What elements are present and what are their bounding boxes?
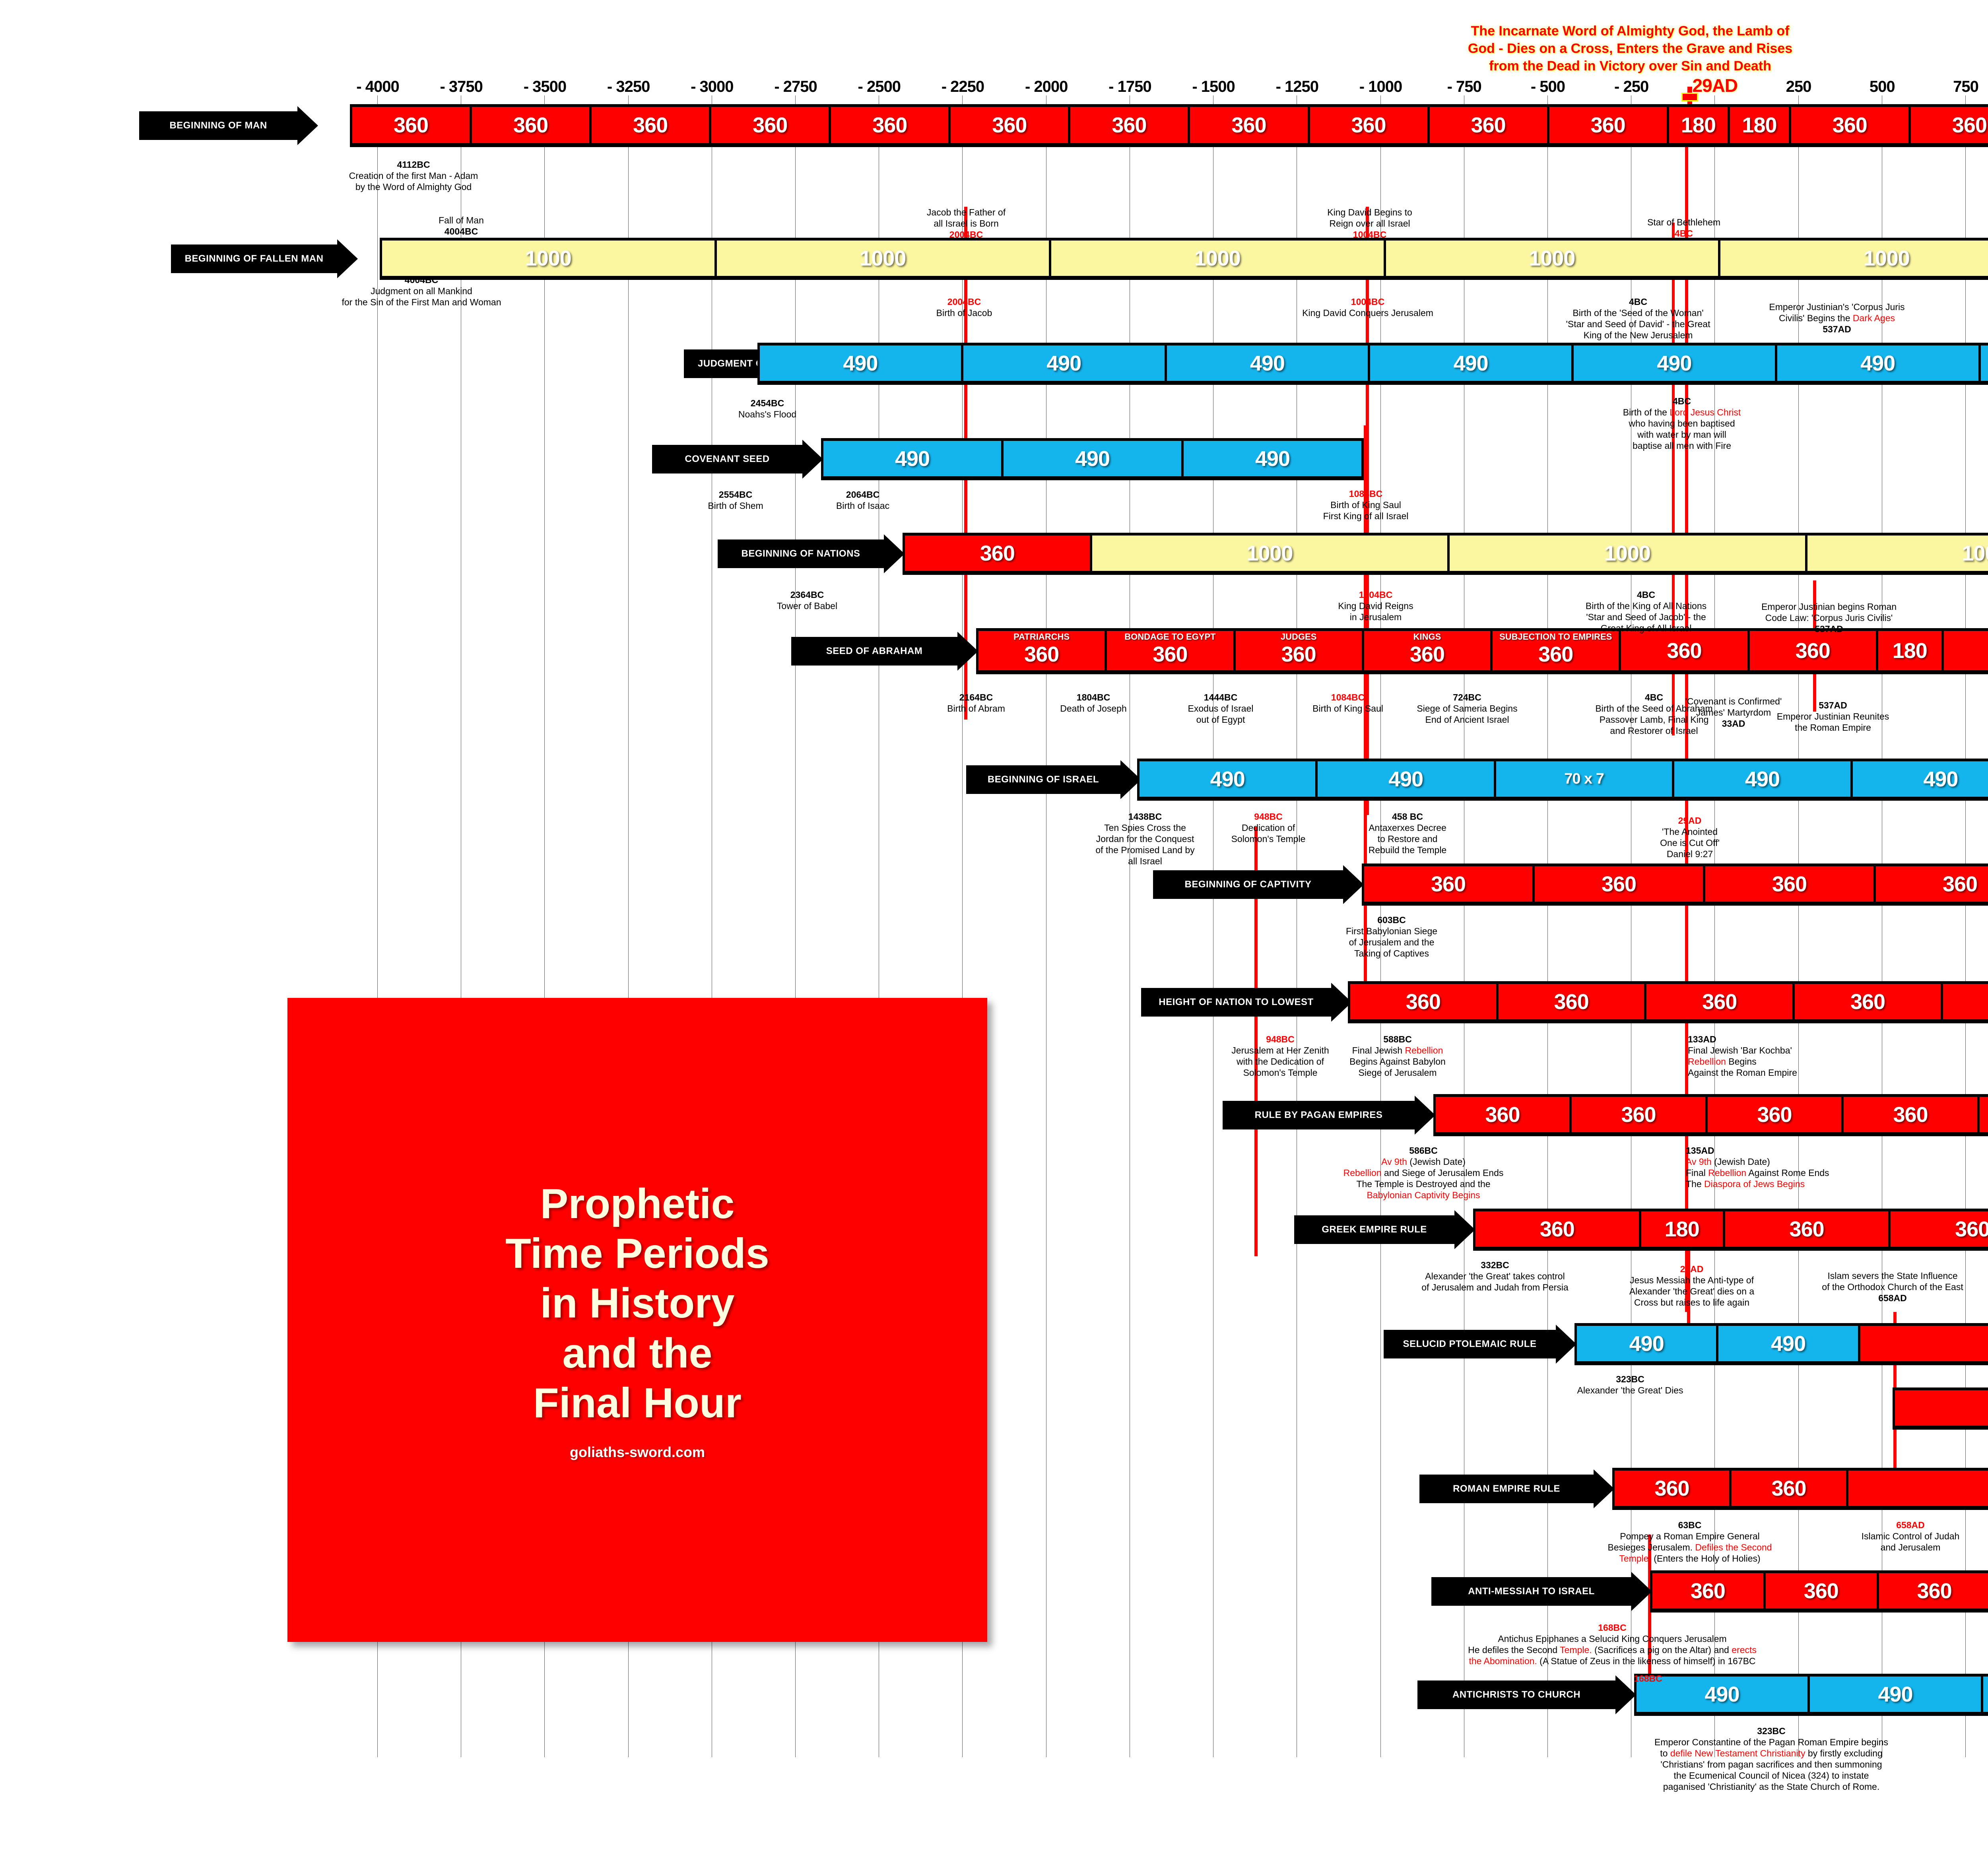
timeline-cell[interactable]: 360 [1535,866,1705,902]
annotation-a36: Napoleon Defeats the Papal Army. Pope Pi… [1948,700,1988,733]
timeline-cell[interactable]: 360 [1791,107,1911,143]
annotation-date: 168BC [1590,1673,1706,1684]
annotation-text: Death of Joseph [1026,703,1161,714]
timeline-cell[interactable]: 490 [1983,1677,1988,1712]
axis-tick-label: 750 [1953,78,1978,96]
timeline-cell[interactable]: 1335 [1860,1326,1988,1361]
timeline-cell[interactable]: KINGS360 [1364,631,1493,670]
cell-value: 360 [992,113,1027,138]
cell-value: 490 [1629,1331,1664,1356]
timeline-cell[interactable]: 360 [1070,107,1190,143]
timeline-cell[interactable]: 1000 [1092,536,1450,571]
annotation-a9: 1004BCKing David Conquers Jerusalem [1274,296,1461,318]
timeline-cell[interactable]: 490 [1810,1677,1983,1712]
arrow-head-icon [1415,1096,1435,1135]
annotation-date: 2004BC [885,296,1044,307]
annotation-text: Jacob the Father ofall Israel is Born [891,207,1042,229]
annotation-a64: 323BCEmperor Constantine of the Pagan Ro… [1559,1725,1984,1792]
timeline-cell[interactable]: 1000 [717,241,1052,276]
cell-value: 360 [1943,872,1977,897]
cell-value: 490 [1923,767,1958,792]
timeline-cell[interactable]: 360 [1725,1211,1891,1247]
row-label-beginning-of-fallen-man[interactable]: BEGINNING OF FALLEN MAN [171,239,358,278]
annotation-date: 1444BC [1149,692,1292,703]
cell-value: 1000 [1194,246,1241,271]
annotation-text: Emperor Justinian begins RomanCode Law: … [1722,601,1936,623]
timeline-bar: 360360360360360360360 [1348,981,1988,1023]
timeline-cell[interactable]: 490 [1674,761,1852,797]
annotation-a51: 332BCAlexander 'the Great' takes control… [1366,1259,1624,1293]
timeline-cell[interactable]: 490 [1370,345,1574,381]
cell-value: 1000 [860,246,906,271]
annotation-date: 1804BC [1026,692,1161,703]
timeline-cell[interactable]: 360 [592,107,711,143]
annotation-date: 4BC [1610,228,1757,239]
cell-value: 360 [1757,1102,1792,1127]
timeline-cell[interactable]: 490 [963,345,1167,381]
timeline-cell[interactable]: 180 [1730,107,1791,143]
annotation-text: Noahs's Flood [684,409,851,420]
axis-tick-label: - 1250 [1276,78,1318,96]
cell-value: 360 [1702,990,1737,1014]
timeline-bar: 360180360360360360 [1473,1209,1988,1251]
timeline-cell[interactable]: 360 [711,107,831,143]
timeline-cell[interactable]: 490 [1318,761,1496,797]
annotation-date: 133AD [1688,1034,1895,1045]
timeline-bar: 49049070 x 7490490490490 [1137,759,1988,801]
timeline-cell[interactable]: PATRIARCHS360 [978,631,1107,670]
annotation-text: Pompey a Roman Empire GeneralBesieges Je… [1551,1531,1829,1564]
axis-tick-label: 250 [1786,78,1811,96]
row-label-text: ANTICHRISTS TO CHURCH [1417,1680,1615,1709]
annotation-text: Birth of Abram [911,703,1042,714]
site-url: goliaths-sword.com [570,1444,705,1461]
annotation-a61: 168BCAntichus Epiphanes a Selucid King C… [1390,1622,1835,1667]
title-line-3: in History [540,1279,735,1328]
title-card: Prophetic Time Periods in History and th… [287,998,987,1642]
axis-tick-label: - 2000 [1025,78,1068,96]
timeline-cell[interactable]: 1000 [1051,241,1386,276]
timeline-cell[interactable]: 1000 [1386,241,1721,276]
cell-value: 360 [1917,1579,1952,1603]
annotation-a7: 2004BCBirth of Jacob [885,296,1044,318]
cell-value: 360 [1893,1102,1928,1127]
cell-value: 360 [1790,1217,1824,1242]
annotation-text: Creation of the first Man - Adamby the W… [330,170,497,192]
annotation-a52: 29ADJesus Messiah the Anti-type ofAlexan… [1612,1263,1771,1308]
row-label-text: GREEK EMPIRE RULE [1294,1215,1454,1244]
timeline-cell[interactable]: 360 [951,107,1070,143]
arrow-head-icon [802,440,823,479]
annotation-text: Antichus Epiphanes a Selucid King Conque… [1390,1633,1835,1667]
timeline-cell[interactable]: 1290 [1895,1390,1988,1426]
arrow-head-icon [1454,1210,1475,1249]
timeline-cell[interactable]: 490 [1777,345,1981,381]
cell-value: 360 [1621,1102,1656,1127]
annotation-date: 4004BC [402,226,521,237]
annotation-a3: In an unwillingness to address China's p… [1891,181,1988,214]
timeline-cell[interactable]: 1000 [1720,241,1988,276]
cell-caption: BONDAGE TO EGYPT [1107,632,1233,642]
annotation-a55: 323BCAlexander 'the Great' Dies [1543,1374,1718,1396]
annotation-a40: 29AD'The AnointedOne is Cut Off'Daniel 9… [1626,815,1753,860]
title-line-5: Final Hour [533,1378,742,1428]
row-label-text: SELUCID PTOLEMAIC RULE [1384,1330,1556,1358]
annotation-text: Emperor Justinian Reunitesthe Roman Empi… [1730,711,1936,733]
timeline-cell[interactable]: 1000 [382,241,717,276]
cell-value: 1000 [1246,541,1293,566]
arrow-head-icon [1343,865,1364,904]
cell-value: 360 [1538,642,1573,667]
timeline-cell[interactable]: 70 x 7 [1496,761,1674,797]
annotation-date: 537AD [1726,324,1948,335]
timeline-cell[interactable]: 490 [1184,441,1361,476]
cell-value: 490 [1046,351,1081,376]
cell-value: 360 [1471,113,1506,138]
timeline-cell[interactable]: 360 [831,107,951,143]
axis-tick-label: 500 [1870,78,1895,96]
annotation-text: King David Reignsin Jerusalem [1284,600,1467,623]
annotation-a53: Islam severs the State Influenceof the O… [1781,1270,1988,1304]
timeline-bar: 3601000100010001000 [903,533,1988,575]
annotation-text: Av 9th (Jewish Date)Final Rebellion Agai… [1686,1156,1920,1190]
annotation-text: Alexander 'the Great' Dies [1543,1385,1718,1396]
cell-value: 490 [1388,767,1423,792]
annotation-date: 588BC [1304,1034,1491,1045]
timeline-cell[interactable]: 360 [1844,1097,1980,1132]
timeline-cell[interactable]: 360 [1750,631,1878,670]
annotation-text: In an unwillingness to address China's p… [1891,181,1988,214]
axis-tick-label: - 500 [1531,78,1565,96]
row-label-text: RULE BY PAGAN EMPIRES [1223,1101,1415,1129]
cell-value: 490 [1255,446,1290,471]
title-line-1: Prophetic [540,1179,735,1229]
timeline-bar: 3603601260 3.5 x 360 [1612,1468,1988,1510]
timeline-cell[interactable]: 360 [1766,1573,1879,1609]
axis-tick-label: - 750 [1447,78,1481,96]
annotation-a48: 586BCAv 9th (Jewish Date)Rebellion and S… [1294,1145,1553,1201]
annotation-date: 1004BC [1284,589,1467,600]
annotation-text: Birth of Isaac [787,500,938,511]
cell-value: 360 [1771,1476,1806,1501]
annotation-a5: 4004BCJudgment on all Mankindfor the Sin… [310,274,533,308]
cell-value: 1000 [1962,541,1988,566]
row-label-roman-empire-rule[interactable]: ROMAN EMPIRE RULE [1419,1469,1614,1508]
row-label-text: COVENANT SEED [652,445,802,473]
row-label-beginning-of-israel[interactable]: BEGINNING OF ISRAEL [966,760,1141,799]
annotation-a59: 658ADIslamic Control of Judahand Jerusal… [1817,1519,1988,1553]
timeline-cell[interactable]: 360 [1980,1097,1988,1132]
timeline-cell[interactable]: JUDGES360 [1236,631,1364,670]
cell-value: 360 [1833,113,1867,138]
timeline-cell[interactable]: 360 [352,107,472,143]
annotation-a4: Fall of Man4004BC [402,215,521,237]
annotation-text: Emperor Constantine of the Pagan Roman E… [1559,1737,1984,1792]
cell-value: 180 [1681,113,1716,138]
timeline-cell[interactable]: 360 [1879,1573,1988,1609]
row-label-text: ROMAN EMPIRE RULE [1419,1475,1594,1503]
arrow-head-icon [957,632,978,671]
cell-value: 360 [633,113,668,138]
timeline-cell[interactable]: Roman Popery 1260 [1944,631,1988,670]
timeline-cell[interactable]: 490 [1140,761,1318,797]
cell-caption: KINGS [1364,632,1490,642]
timeline-cell[interactable]: 1000 [1807,536,1988,571]
timeline-cell[interactable]: 490 [1981,345,1988,381]
annotation-text: Jesus Messiah the Anti-type ofAlexander … [1612,1275,1771,1308]
annotation-text: Final Jewish 'Bar Kochba'Rebellion Begin… [1688,1045,1895,1078]
cell-value: 360 [1952,113,1987,138]
annotation-date: 658AD [1817,1519,1988,1531]
timeline-cell[interactable]: SUBJECTION TO EMPIRES360 [1493,631,1621,670]
row-label-beginning-of-nations[interactable]: BEGINNING OF NATIONS [718,534,905,573]
arrow-head-icon [337,239,358,278]
timeline-cell[interactable]: 490 [1853,761,1988,797]
timeline-bar: 360360360360360360 [1650,1570,1988,1613]
cell-value: 360 [1772,872,1807,897]
row-label-rule-by-pagan-empires[interactable]: RULE BY PAGAN EMPIRES [1223,1096,1435,1135]
timeline-cell[interactable]: 360 [1190,107,1310,143]
annotation-date: 537AD [1730,700,1936,711]
row-label-text: ANTI-MESSIAH TO ISRAEL [1431,1577,1631,1606]
annotation-text: Napoleon Defeats the Papal Army. Pope Pi… [1948,700,1988,722]
timeline-cell[interactable]: 360 [1646,984,1795,1019]
row-label-beginning-of-captivity[interactable]: BEGINNING OF CAPTIVITY [1153,865,1364,904]
row-label-beginning-of-man[interactable]: BEGINNING OF MAN [139,106,318,145]
annotation-a58: 63BCPompey a Roman Empire GeneralBesiege… [1551,1519,1829,1564]
annotation-text: Fall of Man [402,215,521,226]
timeline-cell[interactable]: 1000 [1450,536,1807,571]
cell-value: 490 [1745,767,1780,792]
annotation-a25: Emperor Justinian begins RomanCode Law: … [1722,601,1936,635]
annotation-text: Star of Bethlehem [1610,217,1757,228]
row-label-text: BEGINNING OF NATIONS [718,539,884,568]
cell-value: 1000 [1864,246,1910,271]
annotation-text: Exodus of Israelout of Egypt [1149,703,1292,725]
annotation-date: 948BC [1193,811,1344,822]
arrow-head-icon [297,106,318,145]
cell-value: 360 [1485,1102,1520,1127]
timeline-cell[interactable]: 490 [823,441,1004,476]
timeline-cell[interactable]: 180 [1878,631,1944,670]
annotation-a1: 4112BCCreation of the first Man - Adamby… [330,159,497,192]
cell-value: 180 [1742,113,1776,138]
row-label-anti-messiah-to-israel[interactable]: ANTI-MESSIAH TO ISRAEL [1431,1572,1652,1611]
cell-value: 360 [1431,872,1466,897]
annotation-a12: Emperor Justinian's 'Corpus JurisCivilis… [1726,301,1948,335]
timeline-cell[interactable]: 180 [1669,107,1730,143]
timeline-cell[interactable]: 360 [1708,1097,1844,1132]
cell-caption: JUDGES [1236,632,1362,642]
arrow-head-icon [884,534,905,573]
row-label-covenant-seed[interactable]: COVENANT SEED [652,440,823,479]
row-label-greek-empire-rule[interactable]: GREEK EMPIRE RULE [1294,1210,1475,1249]
annotation-date: 658AD [1781,1292,1988,1304]
cell-value: 360 [1955,1217,1988,1242]
cell-value: 70 x 7 [1564,770,1604,788]
row-label-text: BEGINNING OF ISRAEL [966,765,1120,794]
timeline-cell[interactable]: 360 [1615,1471,1732,1506]
row-label-height-of-nation-to-lowest[interactable]: HEIGHT OF NATION TO LOWEST [1141,983,1352,1022]
row-label-seed-of-abraham[interactable]: SEED OF ABRAHAM [791,632,978,671]
annotation-text: Birth of the Lord Jesus Christwho having… [1543,407,1821,451]
cell-value: 490 [1705,1682,1739,1707]
timeline-cell[interactable]: BONDAGE TO EGYPT360 [1107,631,1235,670]
timeline-cell[interactable]: 360 [905,536,1092,571]
row-label-text: HEIGHT OF NATION TO LOWEST [1141,988,1331,1017]
cell-value: 1000 [525,246,571,271]
cell-value: 490 [895,446,930,471]
cell-value: 360 [753,113,787,138]
annotation-date: 168BC [1390,1622,1835,1633]
axis-tick-label: - 3750 [440,78,482,96]
timeline-bar: 3603603603603603603603603603603601801803… [350,104,1988,147]
cell-value: 490 [1878,1682,1912,1707]
annotation-date: 586BC [1294,1145,1553,1156]
annotation-a28: 2164BCBirth of Abram [911,692,1042,714]
cell-value: 360 [1540,1217,1574,1242]
annotation-date: 4BC [1543,396,1821,407]
row-label-selucid-ptolemaic-rule[interactable]: SELUCID PTOLEMAIC RULE [1384,1325,1576,1364]
cell-value: 180 [1665,1217,1699,1242]
cell-value: 360 [1667,638,1701,663]
timeline-cell[interactable]: 360 [1876,866,1988,902]
timeline-cell[interactable]: 1260 3.5 x 360 [1848,1471,1988,1506]
annotation-text: King David Conquers Jerusalem [1274,307,1461,318]
cell-value: 360 [872,113,907,138]
annotation-text: Birth of Jacob [885,307,1044,318]
title-line-4: and the [563,1329,712,1378]
annotation-date: 135AD [1686,1145,1920,1156]
annotation-date: 2004BC [891,229,1042,240]
annotation-text: Antaxerxes Decreeto Restore andRebuild t… [1324,822,1491,856]
timeline-cell[interactable]: 490 [1577,1326,1718,1361]
cell-value: 360 [1850,990,1885,1014]
annotation-date: 537AD [1722,623,1936,635]
cell-value: 360 [1591,113,1625,138]
cell-value: 360 [1024,642,1059,667]
annotation-text: Tower of Babel [724,600,891,611]
timeline-cell[interactable]: 490 [1574,345,1777,381]
arrow-head-icon [1556,1325,1576,1364]
annotation-date: 2364BC [724,589,891,600]
annotation-a23: 1004BCKing David Reignsin Jerusalem [1284,589,1467,623]
cell-value: 1000 [1529,246,1575,271]
annotation-date: 2454BC [684,398,851,409]
axis-tick-label: - 3500 [524,78,566,96]
timeline-cell[interactable]: 360 [472,107,592,143]
annotation-date: 1004BC [1274,296,1461,307]
timeline-cell[interactable]: 360 [1436,1097,1572,1132]
axis-tick-label: - 1750 [1109,78,1151,96]
timeline-cell[interactable]: 360 [1732,1471,1848,1506]
annotation-a10: Star of Bethlehem4BC [1610,217,1757,239]
timeline-cell[interactable]: 180 [1641,1211,1725,1247]
annotation-a17: 4BCBirth of the Lord Jesus Christwho hav… [1543,396,1821,451]
annotation-a30: 1444BCExodus of Israelout of Egypt [1149,692,1292,725]
cell-value: 360 [1804,1579,1839,1603]
annotation-date: 2164BC [911,692,1042,703]
annotation-date: 323BC [1559,1725,1984,1737]
timeline-cell[interactable]: 360 [1430,107,1549,143]
cell-value: 490 [843,351,878,376]
timeline-cell[interactable]: 360 [1795,984,1943,1019]
timeline-cell[interactable]: 360 [1621,631,1749,670]
cell-value: 490 [1250,351,1285,376]
timeline-bar: 100010001000100010001000 [380,238,1988,280]
cell-value: 360 [1691,1579,1725,1603]
annotation-text: Dedication ofSolomon's Temple [1193,822,1344,844]
row-label-text: BEGINNING OF FALLEN MAN [171,245,337,273]
cell-value: 360 [980,541,1015,566]
timeline-cell[interactable]: 360 [1499,984,1647,1019]
axis-tick-label: - 1500 [1192,78,1235,96]
axis-tick-label: - 2750 [774,78,817,96]
timeline-bar: 490490490 [821,438,1364,480]
annotation-a38: 948BCDedication ofSolomon's Temple [1193,811,1344,844]
cell-value: 490 [1210,767,1245,792]
timeline-cell[interactable]: 360 [1652,1573,1766,1609]
timeline-cell[interactable]: 490 [1718,1326,1860,1361]
timeline-cell[interactable]: 360 [1943,984,1988,1019]
cell-value: 360 [1602,872,1636,897]
timeline-cell[interactable]: 360 [1475,1211,1641,1247]
annotation-text: Birth of King SaulFirst King of all Isra… [1264,499,1467,522]
annotation-date: 458 BC [1324,811,1491,822]
cell-value: 1000 [1604,541,1650,566]
timeline-cell[interactable]: 360 [1572,1097,1708,1132]
annotation-a39: 458 BCAntaxerxes Decreeto Restore andReb… [1324,811,1491,856]
annotation-date: 29AD [1612,1263,1771,1275]
axis-tick-label: - 3250 [607,78,650,96]
axis-tick-label: - 2250 [942,78,984,96]
cell-value: 360 [394,113,428,138]
annotation-a22: 2364BCTower of Babel [724,589,891,611]
annotation-a62: 168BC [1590,1673,1706,1684]
timeline-cell[interactable]: 360 [1705,866,1876,902]
axis-tick-label: 29AD [1693,75,1738,96]
cell-caption: PATRIARCHS [978,632,1105,642]
cell-value: 180 [1893,638,1927,663]
timeline-cell[interactable]: 360 [1364,866,1535,902]
annotation-date: 1797AD [1948,722,1988,733]
timeline-cell[interactable]: 360 [1911,107,1988,143]
arrow-head-icon [1631,1572,1652,1611]
timeline-bar: 1290 [1893,1387,1988,1430]
annotation-a45: 588BCFinal Jewish RebellionBegins Agains… [1304,1034,1491,1078]
annotation-date: 1004BC [1290,229,1449,240]
timeline-cell[interactable]: 360 [1310,107,1430,143]
timeline-cell[interactable]: 490 [1004,441,1184,476]
timeline-cell[interactable]: 490 [760,345,963,381]
axis-tick-label: - 1000 [1359,78,1402,96]
annotation-a8: King David Begins toReign over all Israe… [1290,207,1449,240]
timeline-cell[interactable]: 360 [1549,107,1669,143]
timeline-cell[interactable]: 360 [1350,984,1499,1019]
timeline-cell[interactable]: 490 [1167,345,1371,381]
row-label-text: SEED OF ABRAHAM [791,637,957,666]
cell-value: 360 [1153,642,1187,667]
annotation-date: 29AD [1626,815,1753,826]
headline-text: The Incarnate Word of Almighty God, the … [1427,22,1833,75]
annotation-text: Av 9th (Jewish Date)Rebellion and Siege … [1294,1156,1553,1201]
annotation-date: 1084BC [1264,488,1467,499]
row-label-text: BEGINNING OF MAN [139,111,297,140]
cell-value: 360 [1554,990,1589,1014]
row-label-text: BEGINNING OF CAPTIVITY [1153,870,1343,899]
cell-value: 360 [1406,990,1441,1014]
timeline-cell[interactable]: 360 [1891,1211,1988,1247]
